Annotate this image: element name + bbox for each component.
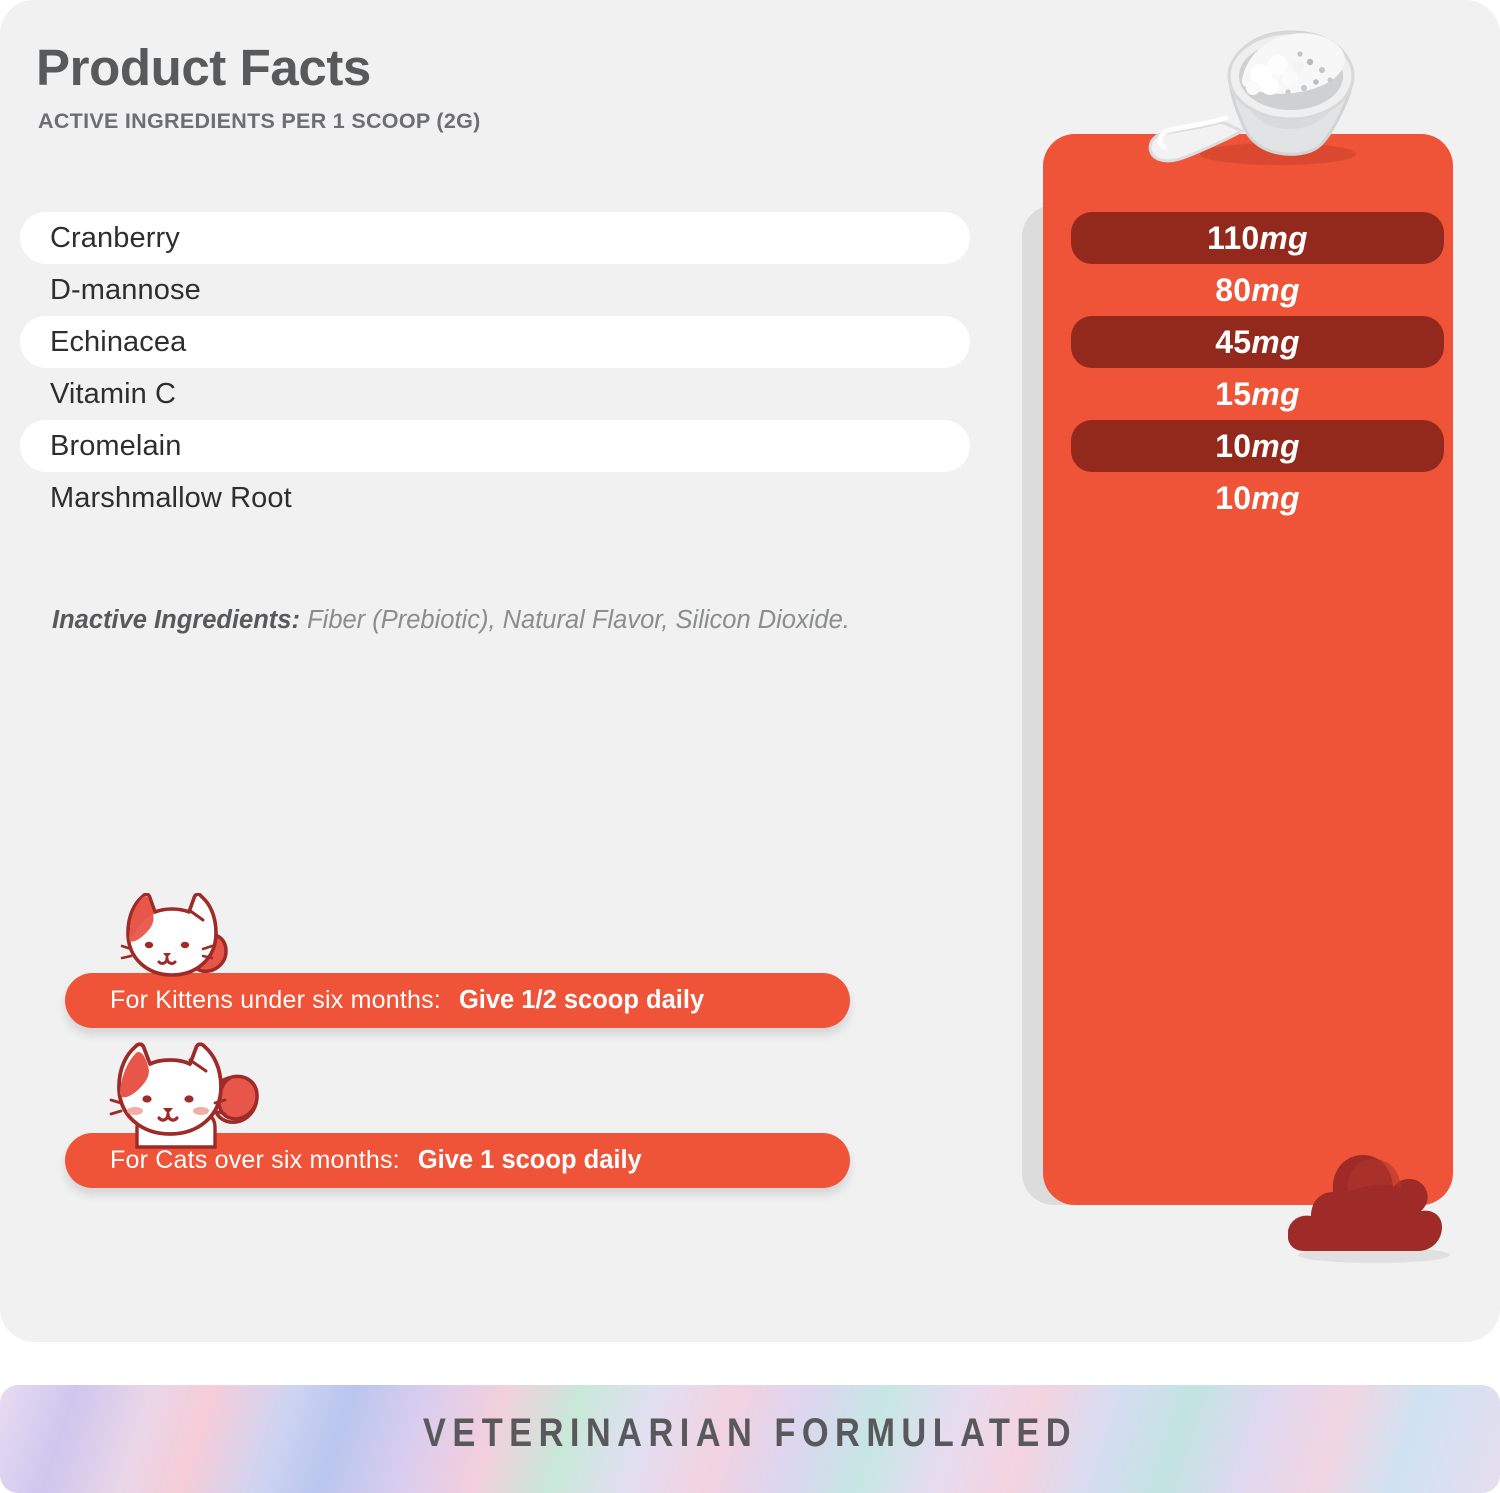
dosing-kitten: For Kittens under six months: Give 1/2 s…	[65, 973, 850, 1028]
dosing-label: For Cats over six months:	[110, 1148, 400, 1173]
dosing-pill-cat: For Cats over six months: Give 1 scoop d…	[65, 1133, 850, 1188]
dosage-value: 15mg	[1215, 378, 1299, 410]
ingredient-name: Bromelain	[20, 432, 181, 461]
list-item: Bromelain	[20, 420, 970, 472]
red-blob-icon	[1288, 1155, 1458, 1265]
dosage-value: 10mg	[1215, 430, 1299, 462]
dosage-row: 10mg	[1071, 472, 1444, 524]
dosage-value: 80mg	[1215, 274, 1299, 306]
ingredient-name: D-mannose	[20, 276, 201, 305]
list-item: Echinacea	[20, 316, 970, 368]
ingredient-name: Vitamin C	[20, 380, 176, 409]
dosage-value: 110mg	[1207, 222, 1308, 254]
dosing-label: For Kittens under six months:	[110, 988, 441, 1013]
dosage-value: 45mg	[1215, 326, 1299, 358]
dosage-row: 15mg	[1071, 368, 1444, 420]
page-subtitle: ACTIVE INGREDIENTS PER 1 SCOOP (2G)	[38, 111, 481, 133]
dosage-row: 110mg	[1071, 212, 1444, 264]
product-facts-card: Product Facts ACTIVE INGREDIENTS PER 1 S…	[0, 0, 1500, 1342]
ingredient-list: Cranberry D-mannose Echinacea Vitamin C …	[20, 212, 970, 524]
banner-text: VETERINARIAN FORMULATED	[105, 1413, 1395, 1453]
list-item: Cranberry	[20, 212, 970, 264]
dosage-row: 10mg	[1071, 420, 1444, 472]
inactive-ingredients-value: Fiber (Prebiotic), Natural Flavor, Silic…	[307, 606, 850, 634]
dosage-row: 45mg	[1071, 316, 1444, 368]
ingredient-name: Cranberry	[20, 224, 180, 253]
inactive-ingredients-label: Inactive Ingredients:	[52, 606, 300, 634]
list-item: D-mannose	[20, 264, 970, 316]
dosing-amount: Give 1/2 scoop daily	[459, 988, 704, 1014]
list-item: Vitamin C	[20, 368, 970, 420]
list-item: Marshmallow Root	[20, 472, 970, 524]
veterinarian-banner: VETERINARIAN FORMULATED	[0, 1385, 1500, 1493]
inactive-ingredients: Inactive Ingredients: Fiber (Prebiotic),…	[52, 608, 850, 634]
ingredient-name: Marshmallow Root	[20, 484, 292, 513]
ingredient-name: Echinacea	[20, 328, 186, 357]
page-title: Product Facts	[36, 42, 371, 93]
measuring-scoop-icon	[1130, 18, 1360, 168]
dosage-row: 80mg	[1071, 264, 1444, 316]
dosing-pill-kitten: For Kittens under six months: Give 1/2 s…	[65, 973, 850, 1028]
dosage-value: 10mg	[1215, 482, 1299, 514]
dosage-value-list: 110mg 80mg 45mg 15mg 10mg 10mg	[1071, 212, 1444, 524]
dosing-cat: For Cats over six months: Give 1 scoop d…	[65, 1133, 850, 1188]
dosing-amount: Give 1 scoop daily	[418, 1148, 642, 1174]
